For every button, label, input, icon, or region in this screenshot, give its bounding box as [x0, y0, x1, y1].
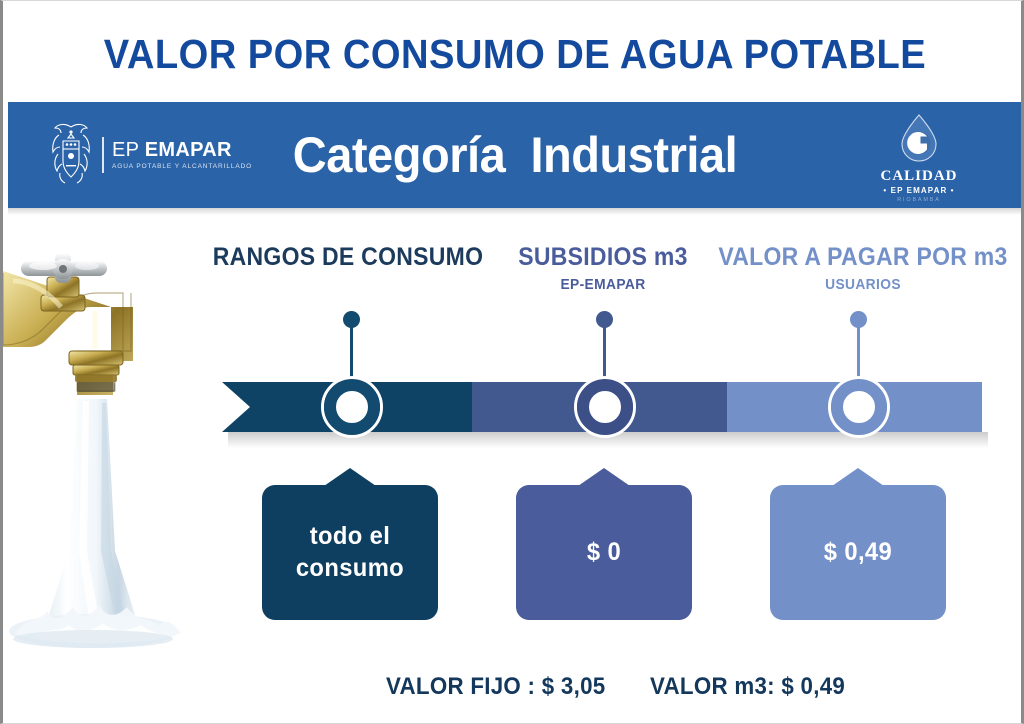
- logo-calidad: CALIDAD • EP EMAPAR • RIOBAMBA: [864, 113, 974, 199]
- coat-of-arms-crest-icon: [46, 121, 96, 190]
- bar-node-subsidios: [574, 376, 636, 438]
- card-pointer-icon: [832, 468, 884, 486]
- column-header-valor-a-pagar: VALOR A PAGAR POR m3 USUARIOS: [703, 244, 1023, 293]
- footer-valor-fijo: VALOR FIJO : $ 3,05: [386, 673, 605, 701]
- column-header-title: VALOR A PAGAR POR m3: [716, 244, 1010, 272]
- faucet-with-running-water-image: [3, 251, 235, 671]
- header-band: Categoría Industrial: [8, 102, 1022, 208]
- page-title: VALOR POR CONSUMO DE AGUA POTABLE: [39, 31, 991, 78]
- value-card-valor-a-pagar: $ 0,49: [770, 485, 946, 620]
- logo-name: EP EMAPAR: [112, 140, 252, 161]
- logo-tagline: AGUA POTABLE Y ALCANTARILLADO: [112, 163, 252, 170]
- bar-node-rangos: [321, 376, 383, 438]
- card-pointer-icon: [324, 468, 376, 486]
- calidad-label: CALIDAD: [880, 169, 957, 184]
- logo-ep-emapar: EP EMAPAR AGUA POTABLE Y ALCANTARILLADO: [46, 118, 252, 192]
- value-card-rangos: todo el consumo: [262, 485, 438, 620]
- slide-canvas: VALOR POR CONSUMO DE AGUA POTABLE Catego…: [0, 0, 1024, 724]
- column-header-subtitle: USUARIOS: [716, 277, 1010, 294]
- calidad-city: RIOBAMBA: [897, 197, 940, 203]
- footer-valor-m3: VALOR m3: $ 0,49: [650, 673, 845, 701]
- header-band-shadow: [8, 208, 1022, 215]
- water-drop-c-icon: [896, 113, 942, 168]
- logo-divider: [102, 137, 104, 173]
- value-card-text: $ 0: [587, 537, 621, 568]
- bar-node-valor-a-pagar: [828, 376, 890, 438]
- card-pointer-icon: [578, 468, 630, 486]
- calidad-sublabel: • EP EMAPAR •: [883, 186, 954, 195]
- value-card-text: todo el consumo: [296, 521, 404, 584]
- value-card-text: $ 0,49: [824, 537, 892, 568]
- column-header-title: SUBSIDIOS m3: [470, 244, 737, 272]
- value-card-subsidios: $ 0: [516, 485, 692, 620]
- column-header-subtitle: EP-EMAPAR: [470, 277, 737, 294]
